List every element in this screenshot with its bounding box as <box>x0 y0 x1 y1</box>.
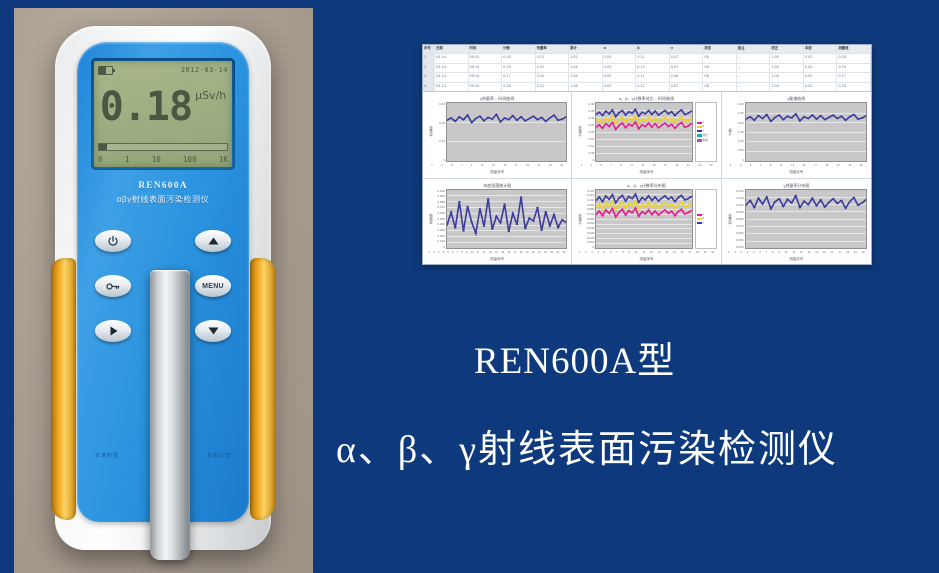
data-point <box>625 200 627 201</box>
x-tick: 7 <box>766 251 767 254</box>
x-tick: 1 <box>431 164 432 167</box>
data-point <box>605 209 607 210</box>
x-tick: 13 <box>808 251 811 254</box>
table-cell: 0.18 <box>837 54 871 62</box>
x-tick: 3 <box>441 164 442 167</box>
data-point <box>528 118 531 119</box>
data-point <box>645 206 647 207</box>
data-point <box>664 209 666 210</box>
table-row[interactable]: 203-1409:130.190.221.040.030.120.07OK--1… <box>423 64 871 73</box>
table-cell: -- <box>737 54 771 62</box>
data-point <box>645 199 647 200</box>
table-cell: 0.20 <box>536 73 570 81</box>
gridline <box>746 161 866 162</box>
chart-panel[interactable]: γ剂量率 – 时间曲线剂量率0.300.200.1001357911131517… <box>423 92 572 179</box>
data-point <box>765 196 768 197</box>
y-tick: 0.050 <box>433 217 445 221</box>
data-point <box>661 204 663 205</box>
plot-area <box>446 189 567 250</box>
series-lines <box>746 190 866 249</box>
x-tick: 9 <box>471 164 472 167</box>
data-point <box>612 122 614 123</box>
x-tick: 11 <box>792 251 795 254</box>
data-point <box>794 195 797 196</box>
data-point <box>748 199 751 200</box>
data-point <box>861 117 864 118</box>
data-point <box>648 202 650 203</box>
y-tick: 0.15 <box>582 137 594 141</box>
series-line <box>596 194 691 203</box>
slide-canvas: 2012-03-14 0.18 μSv/h 01101001K REN600A … <box>0 0 939 573</box>
table-cell: OK <box>703 83 737 91</box>
x-tick: 17 <box>513 251 516 254</box>
x-tick: 19 <box>854 251 857 254</box>
y-tick: 0.060 <box>433 211 445 215</box>
y-tick: 0.30 <box>433 102 445 106</box>
data-point <box>651 213 653 214</box>
table-cell: 0.11 <box>636 73 670 81</box>
y-tick: 0.40 <box>582 102 594 106</box>
data-point <box>625 214 627 215</box>
table-row[interactable]: 303-1409:140.170.201.060.020.110.06OK--1… <box>423 73 871 82</box>
data-point <box>661 211 663 212</box>
data-point <box>819 115 822 116</box>
data-point <box>602 122 604 123</box>
legend-item: β <box>697 217 715 220</box>
table-cell: 3 <box>423 73 435 81</box>
legend-label: β <box>703 125 705 128</box>
data-point <box>827 117 830 118</box>
table-row[interactable]: 403-1409:150.180.211.080.030.110.07OK--1… <box>423 83 871 91</box>
data-point <box>671 196 673 197</box>
data-point <box>599 112 601 113</box>
data-point <box>507 230 510 231</box>
lcd-bargraph-fill <box>99 144 107 150</box>
data-point <box>668 113 670 114</box>
power-icon <box>107 235 119 247</box>
data-point <box>654 203 656 204</box>
data-point <box>823 206 826 207</box>
data-point <box>648 110 650 111</box>
table-header-cell: 本底 <box>804 45 838 53</box>
y-axis-ticks: 0.300.250.200.150.100.050 <box>732 102 745 162</box>
search-button[interactable] <box>95 275 131 297</box>
x-tick: 13 <box>658 251 661 254</box>
gridline <box>596 248 691 249</box>
x-tick: 7 <box>616 251 617 254</box>
legend-swatch <box>697 122 702 125</box>
chart-panel[interactable]: 本底涨落统计图本底值0.1000.0900.0800.0700.0600.050… <box>423 179 572 266</box>
y-tick: 0.100 <box>732 203 744 207</box>
plot-area <box>446 102 567 162</box>
data-point <box>499 121 502 122</box>
x-tick: 11 <box>630 164 633 167</box>
x-axis-label: 测量序号 <box>576 256 716 262</box>
data-point <box>520 196 523 197</box>
y-tick: 0.25 <box>732 111 744 115</box>
data-point <box>479 116 482 117</box>
data-point <box>524 227 527 228</box>
x-tick: 9 <box>466 251 467 254</box>
table-cell: 0.18 <box>502 83 536 91</box>
table-cell: 0.02 <box>804 73 838 81</box>
y-axis-label: 剂量率 <box>427 102 433 162</box>
data-point <box>615 216 617 217</box>
table-cell: -- <box>737 83 771 91</box>
y-tick: 0.05 <box>582 151 594 155</box>
y-tick: 0.090 <box>433 194 445 198</box>
data-point <box>628 124 630 125</box>
data-point <box>495 114 498 115</box>
data-point <box>628 202 630 203</box>
data-point <box>674 128 676 129</box>
lcd-scale-tick: 0 <box>98 155 103 164</box>
data-point <box>769 121 772 122</box>
data-point <box>474 118 477 119</box>
data-point <box>664 117 666 118</box>
data-point <box>648 122 650 123</box>
table-cell: 09:12 <box>469 54 503 62</box>
data-point <box>645 120 647 121</box>
data-point <box>454 227 457 228</box>
data-point <box>658 127 660 128</box>
x-tick: 13 <box>492 164 495 167</box>
data-point <box>628 118 630 119</box>
data-point <box>664 195 666 196</box>
chart-title: α、β、γ计数率对比 – 时间曲线 <box>576 95 716 102</box>
data-point <box>684 213 686 214</box>
x-tick: 11 <box>477 251 480 254</box>
data-point <box>622 194 624 195</box>
y-tick: 0.060 <box>582 217 594 221</box>
y-tick: 0.040 <box>433 222 445 226</box>
table-cell: 1.00 <box>770 64 804 72</box>
x-tick: 17 <box>664 164 667 167</box>
data-point <box>782 119 785 120</box>
y-axis-ticks: 0.1200.1100.1000.0900.0800.0700.0600.050… <box>582 189 595 250</box>
data-point <box>615 209 617 210</box>
x-tick: 1 <box>730 164 731 167</box>
table-header-cell: 时间 <box>469 45 503 53</box>
y-tick: 0.020 <box>582 236 594 240</box>
data-point <box>605 202 607 203</box>
data-point <box>628 111 630 112</box>
y-tick: 0.090 <box>732 210 744 214</box>
data-point <box>687 113 689 114</box>
y-tick: 0.20 <box>582 130 594 134</box>
chart-grid: γ剂量率 – 时间曲线剂量率0.300.200.1001357911131517… <box>423 92 871 265</box>
data-point <box>638 122 640 123</box>
legend-swatch <box>697 214 702 217</box>
y-tick: 0.090 <box>582 203 594 207</box>
x-tick: 16 <box>681 251 684 254</box>
data-point <box>553 213 556 214</box>
plot-area <box>745 102 867 162</box>
data-point <box>668 120 670 121</box>
data-point <box>674 215 676 216</box>
data-point <box>608 205 610 206</box>
table-cell: 2 <box>423 64 435 72</box>
x-tick: 25 <box>560 164 563 167</box>
data-point <box>840 116 843 117</box>
device-brand-label: REN600A <box>77 181 249 191</box>
data-point <box>615 123 617 124</box>
data-point <box>615 202 617 203</box>
series-line <box>447 197 566 233</box>
y-tick: 0.060 <box>732 231 744 235</box>
series-line <box>596 116 691 123</box>
table-header-cell: 测量值 <box>837 45 871 53</box>
lcd-status-right: 2012-03-14 <box>181 66 228 74</box>
data-point <box>664 122 666 123</box>
triangle-right-icon <box>108 325 119 337</box>
data-point <box>786 198 789 199</box>
table-cell: 0.18 <box>502 54 536 62</box>
lcd-scale-tick: 1 <box>125 155 130 164</box>
y-tick: 0.10 <box>732 139 744 143</box>
y-tick: 0.080 <box>732 217 744 221</box>
series-line <box>746 114 866 121</box>
table-cell: 1.02 <box>569 54 603 62</box>
data-point <box>631 205 633 206</box>
gridline <box>596 161 691 162</box>
x-axis-label: 测量序号 <box>576 169 716 175</box>
device-body: 2012-03-14 0.18 μSv/h 01101001K REN600A … <box>55 26 271 550</box>
data-point <box>773 201 776 202</box>
x-tick: 13 <box>791 164 794 167</box>
key-icon <box>106 281 120 292</box>
data-point <box>503 203 506 204</box>
x-tick: 3 <box>591 251 592 254</box>
play-button[interactable] <box>95 320 131 342</box>
data-point <box>778 114 781 115</box>
menu-button-label: MENU <box>202 283 224 290</box>
data-point <box>815 205 818 206</box>
legend-swatch <box>697 222 702 225</box>
data-point <box>674 208 676 209</box>
data-point <box>668 205 670 206</box>
data-point <box>831 114 834 115</box>
x-tick: 7 <box>760 164 761 167</box>
lcd-unit: μSv/h <box>195 89 226 102</box>
chart-panel[interactable]: α、β、γ计数率分布图计数率0.1200.1100.1000.0900.0800… <box>572 179 721 266</box>
up-button[interactable] <box>195 230 231 252</box>
data-point <box>631 120 633 121</box>
series-line <box>596 122 691 129</box>
data-point <box>602 128 604 129</box>
table-cell: 1.04 <box>569 64 603 72</box>
data-point <box>520 116 523 117</box>
x-tick: 1 <box>581 164 582 167</box>
y-tick: 0.10 <box>433 139 445 143</box>
data-point <box>677 203 679 204</box>
data-point <box>549 225 552 226</box>
x-tick: 25 <box>562 251 565 254</box>
x-tick: 4 <box>597 251 598 254</box>
data-point <box>625 127 627 128</box>
x-tick: 2 <box>585 251 586 254</box>
x-tick: 1 <box>728 251 729 254</box>
table-cell: 1.08 <box>569 83 603 91</box>
x-tick: 8 <box>622 251 623 254</box>
data-point <box>856 118 859 119</box>
x-tick: 20 <box>711 251 714 254</box>
y-tick: 0.070 <box>732 224 744 228</box>
lcd-bezel: 2012-03-14 0.18 μSv/h 01101001K <box>91 58 235 170</box>
data-point <box>761 118 764 119</box>
legend-label: α <box>703 121 705 124</box>
table-cell: 0.03 <box>603 83 637 91</box>
data-point <box>612 201 614 202</box>
table-cell: 1.00 <box>770 73 804 81</box>
x-axis-ticks: 1234567891011121314151617181920 <box>576 249 716 256</box>
data-point <box>536 206 539 207</box>
table-cell: 4 <box>423 83 435 91</box>
data-point <box>687 120 689 121</box>
data-point <box>524 120 527 121</box>
y-tick: 0.15 <box>732 130 744 134</box>
x-tick: 5 <box>447 251 448 254</box>
chart-panel[interactable]: γ能谱曲线计数0.300.250.200.150.100.05013579111… <box>722 92 871 179</box>
data-point <box>536 119 539 120</box>
data-point <box>605 195 607 196</box>
x-tick: 12 <box>800 251 803 254</box>
y-tick: 0.080 <box>582 207 594 211</box>
y-tick: 0.120 <box>732 189 744 193</box>
x-axis-ticks: 135791113151719212325 <box>427 162 567 169</box>
x-tick: 2 <box>734 251 735 254</box>
x-tick: 14 <box>495 251 498 254</box>
data-point <box>628 209 630 210</box>
data-point <box>757 115 760 116</box>
data-point <box>602 208 604 209</box>
data-point <box>516 120 519 121</box>
x-tick: 16 <box>831 251 834 254</box>
table-cell: -- <box>737 73 771 81</box>
table-cell: 1.00 <box>770 54 804 62</box>
data-point <box>786 116 789 117</box>
y-tick: 0.010 <box>433 239 445 243</box>
x-tick: 13 <box>489 251 492 254</box>
data-point <box>470 122 473 123</box>
power-button[interactable] <box>95 230 131 252</box>
data-point <box>677 112 679 113</box>
data-point <box>638 201 640 202</box>
y-axis-ticks: 0.300.200.100 <box>433 102 446 162</box>
data-point <box>641 211 643 212</box>
x-tick: 17 <box>688 251 691 254</box>
data-point <box>599 118 601 119</box>
data-point <box>671 118 673 119</box>
data-point <box>645 113 647 114</box>
table-cell: 1.06 <box>569 73 603 81</box>
x-tick: 20 <box>532 251 535 254</box>
table-cell: 0.17 <box>502 73 536 81</box>
lcd-status-bar: 2012-03-14 <box>98 64 228 76</box>
table-cell: 0.02 <box>804 64 838 72</box>
y-tick: 0.080 <box>433 200 445 204</box>
x-tick: 3 <box>741 251 742 254</box>
data-point <box>802 200 805 201</box>
data-point <box>483 120 486 121</box>
table-header-row: 序号日期时间计数剂量率累计αβγ状态备注校正本底测量值 <box>423 45 871 54</box>
table-cell: 0.19 <box>837 64 871 72</box>
data-table: 序号日期时间计数剂量率累计αβγ状态备注校正本底测量值103-1409:120.… <box>423 45 871 92</box>
x-tick: 21 <box>837 164 840 167</box>
table-cell: 09:13 <box>469 64 503 72</box>
data-point <box>852 114 855 115</box>
table-cell: 0.21 <box>536 54 570 62</box>
table-cell: 0.03 <box>603 54 637 62</box>
data-point <box>635 193 637 194</box>
data-point <box>681 122 683 123</box>
x-tick: 2 <box>433 251 434 254</box>
data-point <box>605 117 607 118</box>
x-tick: 18 <box>846 251 849 254</box>
data-point <box>602 115 604 116</box>
table-cell: 0.18 <box>837 83 871 91</box>
chart-panel[interactable]: α、β、γ计数率对比 – 时间曲线计数率0.400.350.300.250.20… <box>572 92 721 179</box>
table-header-cell: 校正 <box>770 45 804 53</box>
x-tick: 9 <box>770 164 771 167</box>
data-point <box>641 112 643 113</box>
y-tick: 0.30 <box>732 102 744 106</box>
data-point <box>687 198 689 199</box>
data-point <box>668 212 670 213</box>
data-point <box>668 126 670 127</box>
data-point <box>608 126 610 127</box>
x-tick: 15 <box>503 164 506 167</box>
data-point <box>618 125 620 126</box>
data-point <box>654 196 656 197</box>
x-tick: 21 <box>687 164 690 167</box>
table-cell: -- <box>737 64 771 72</box>
chart-title: γ能谱曲线 <box>726 95 867 102</box>
data-point <box>638 116 640 117</box>
x-tick: 1 <box>579 251 580 254</box>
x-tick: 18 <box>696 251 699 254</box>
x-tick: 8 <box>461 251 462 254</box>
x-tick: 14 <box>665 251 668 254</box>
data-point <box>638 128 640 129</box>
y-tick: 0.110 <box>582 193 594 197</box>
legend-swatch <box>697 126 702 129</box>
x-tick: 1 <box>429 251 430 254</box>
data-point <box>648 117 650 118</box>
chart-title: 本底涨落统计图 <box>427 182 567 189</box>
triangle-up-icon <box>207 236 220 246</box>
data-point <box>618 204 620 205</box>
menu-button[interactable]: MENU <box>195 275 231 297</box>
down-button[interactable] <box>195 320 231 342</box>
data-point <box>831 198 834 199</box>
y-tick: 0.040 <box>582 226 594 230</box>
page-subtitle: α、β、γ射线表面污染检测仪 <box>336 418 936 473</box>
chart-panel[interactable]: γ剂量率分布图剂量率0.1200.1100.1000.0900.0800.070… <box>722 179 871 266</box>
table-row[interactable]: 103-1409:120.180.211.020.030.110.07OK--1… <box>423 54 871 63</box>
x-tick: 13 <box>641 164 644 167</box>
data-point <box>671 203 673 204</box>
data-point <box>612 109 614 110</box>
y-axis-ticks: 0.1000.0900.0800.0700.0600.0500.0400.030… <box>433 189 446 250</box>
data-point <box>635 116 637 117</box>
data-point <box>553 114 556 115</box>
data-point <box>782 205 785 206</box>
device-grip-left <box>51 258 76 520</box>
lcd-scale: 01101001K <box>98 154 228 165</box>
y-tick: 0.20 <box>732 121 744 125</box>
table-cell: 0.11 <box>636 83 670 91</box>
